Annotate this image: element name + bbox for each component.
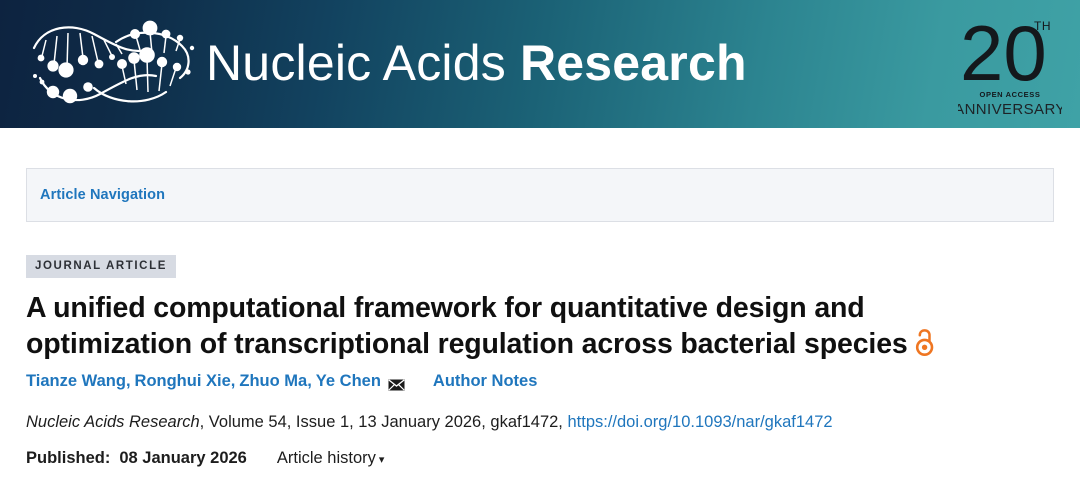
article-navigation-link[interactable]: Article Navigation bbox=[40, 187, 165, 203]
svg-text:ANNIVERSARY: ANNIVERSARY bbox=[958, 101, 1062, 118]
anniversary-badge-icon: 20 TH OPEN ACCESS ANNIVERSARY bbox=[958, 8, 1062, 120]
citation-details: , Volume 54, Issue 1, 13 January 2026, g… bbox=[200, 413, 568, 431]
journal-article-badge: JOURNAL ARTICLE bbox=[26, 255, 176, 278]
svg-text:OPEN ACCESS: OPEN ACCESS bbox=[980, 90, 1041, 99]
journal-wordmark[interactable]: Nucleic Acids Research bbox=[206, 26, 747, 100]
author-link-3[interactable]: Zhuo Ma bbox=[239, 370, 307, 392]
article-page-body: Article Navigation JOURNAL ARTICLE A uni… bbox=[0, 168, 1080, 472]
article-history-toggle[interactable]: Article history▾ bbox=[277, 447, 385, 472]
article-navigation-bar[interactable]: Article Navigation bbox=[26, 168, 1054, 222]
published-date: 08 January 2026 bbox=[119, 447, 247, 470]
author-link-2[interactable]: Ronghui Xie bbox=[135, 370, 231, 392]
published-label: Published: bbox=[26, 447, 110, 470]
citation-journal-name: Nucleic Acids Research bbox=[26, 413, 200, 431]
author-link-4[interactable]: Ye Chen bbox=[316, 370, 381, 392]
page-title: A unified computational framework for qu… bbox=[26, 290, 1036, 362]
author-separator-1: , bbox=[126, 370, 131, 392]
author-link-1[interactable]: Tianze Wang bbox=[26, 370, 126, 392]
dna-helix-icon bbox=[20, 12, 200, 116]
open-access-lock-icon bbox=[914, 329, 935, 356]
doi-link[interactable]: https://doi.org/10.1093/nar/gkaf1472 bbox=[567, 413, 832, 431]
journal-masthead: Nucleic Acids Research 20 TH OPEN ACCESS… bbox=[0, 0, 1080, 128]
article-type-row: JOURNAL ARTICLE bbox=[26, 255, 1054, 278]
author-separator-2: , bbox=[231, 370, 236, 392]
author-notes-link[interactable]: Author Notes bbox=[433, 370, 538, 392]
chevron-down-icon: ▾ bbox=[379, 454, 385, 466]
article-title-text: A unified computational framework for qu… bbox=[26, 292, 908, 360]
article-history-label: Article history bbox=[277, 449, 376, 467]
svg-text:TH: TH bbox=[1034, 19, 1051, 33]
wordmark-bold-text: Research bbox=[520, 34, 747, 92]
authors-row: Tianze Wang, Ronghui Xie, Zhuo Ma, Ye Ch… bbox=[26, 370, 1054, 392]
envelope-icon[interactable] bbox=[388, 375, 405, 387]
article-header-content: JOURNAL ARTICLE A unified computational … bbox=[26, 222, 1054, 472]
wordmark-light-text: Nucleic Acids bbox=[206, 34, 506, 92]
published-row: Published: 08 January 2026 Article histo… bbox=[26, 447, 1054, 472]
author-separator-3: , bbox=[307, 370, 312, 392]
citation-row: Nucleic Acids Research, Volume 54, Issue… bbox=[26, 411, 1054, 434]
